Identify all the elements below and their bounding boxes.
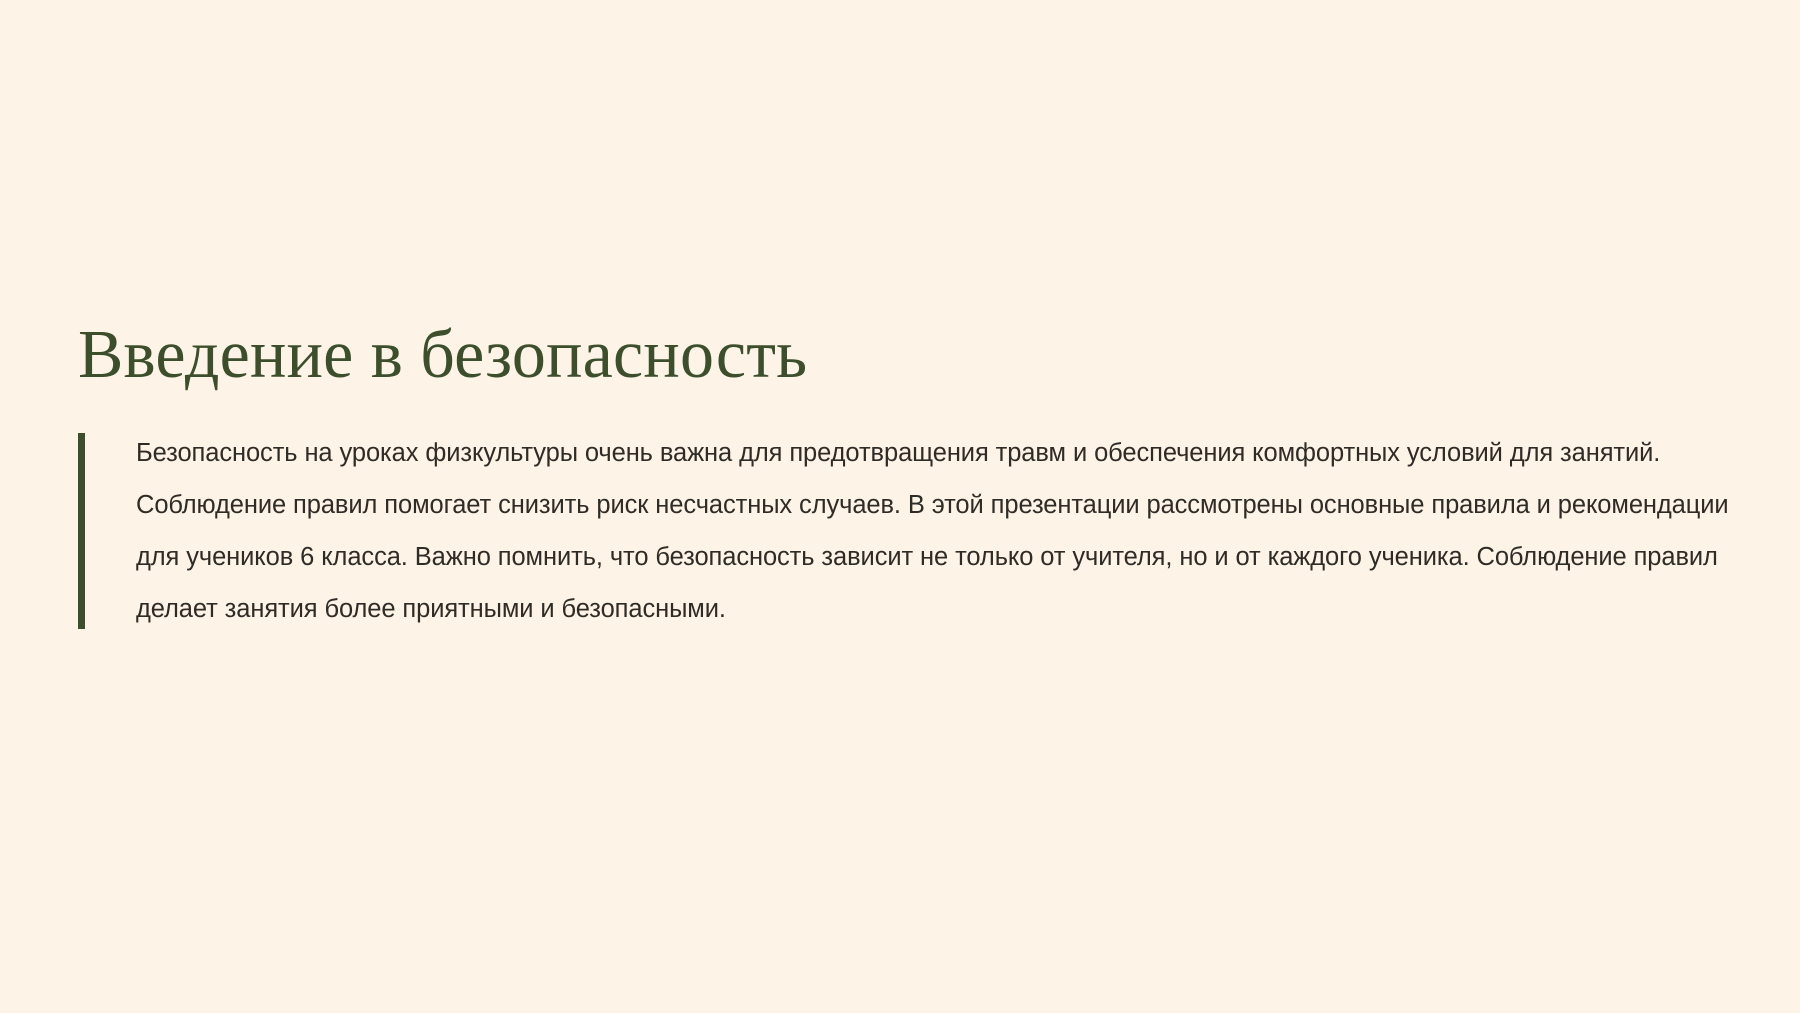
page-title: Введение в безопасность <box>78 318 1723 391</box>
quote-block: Безопасность на уроках физкультуры очень… <box>78 427 1748 635</box>
slide-content: Введение в безопасность Безопасность на … <box>78 318 1748 635</box>
accent-bar <box>78 433 85 629</box>
body-paragraph: Безопасность на уроках физкультуры очень… <box>136 427 1748 635</box>
slide-canvas: Введение в безопасность Безопасность на … <box>0 0 1800 1013</box>
